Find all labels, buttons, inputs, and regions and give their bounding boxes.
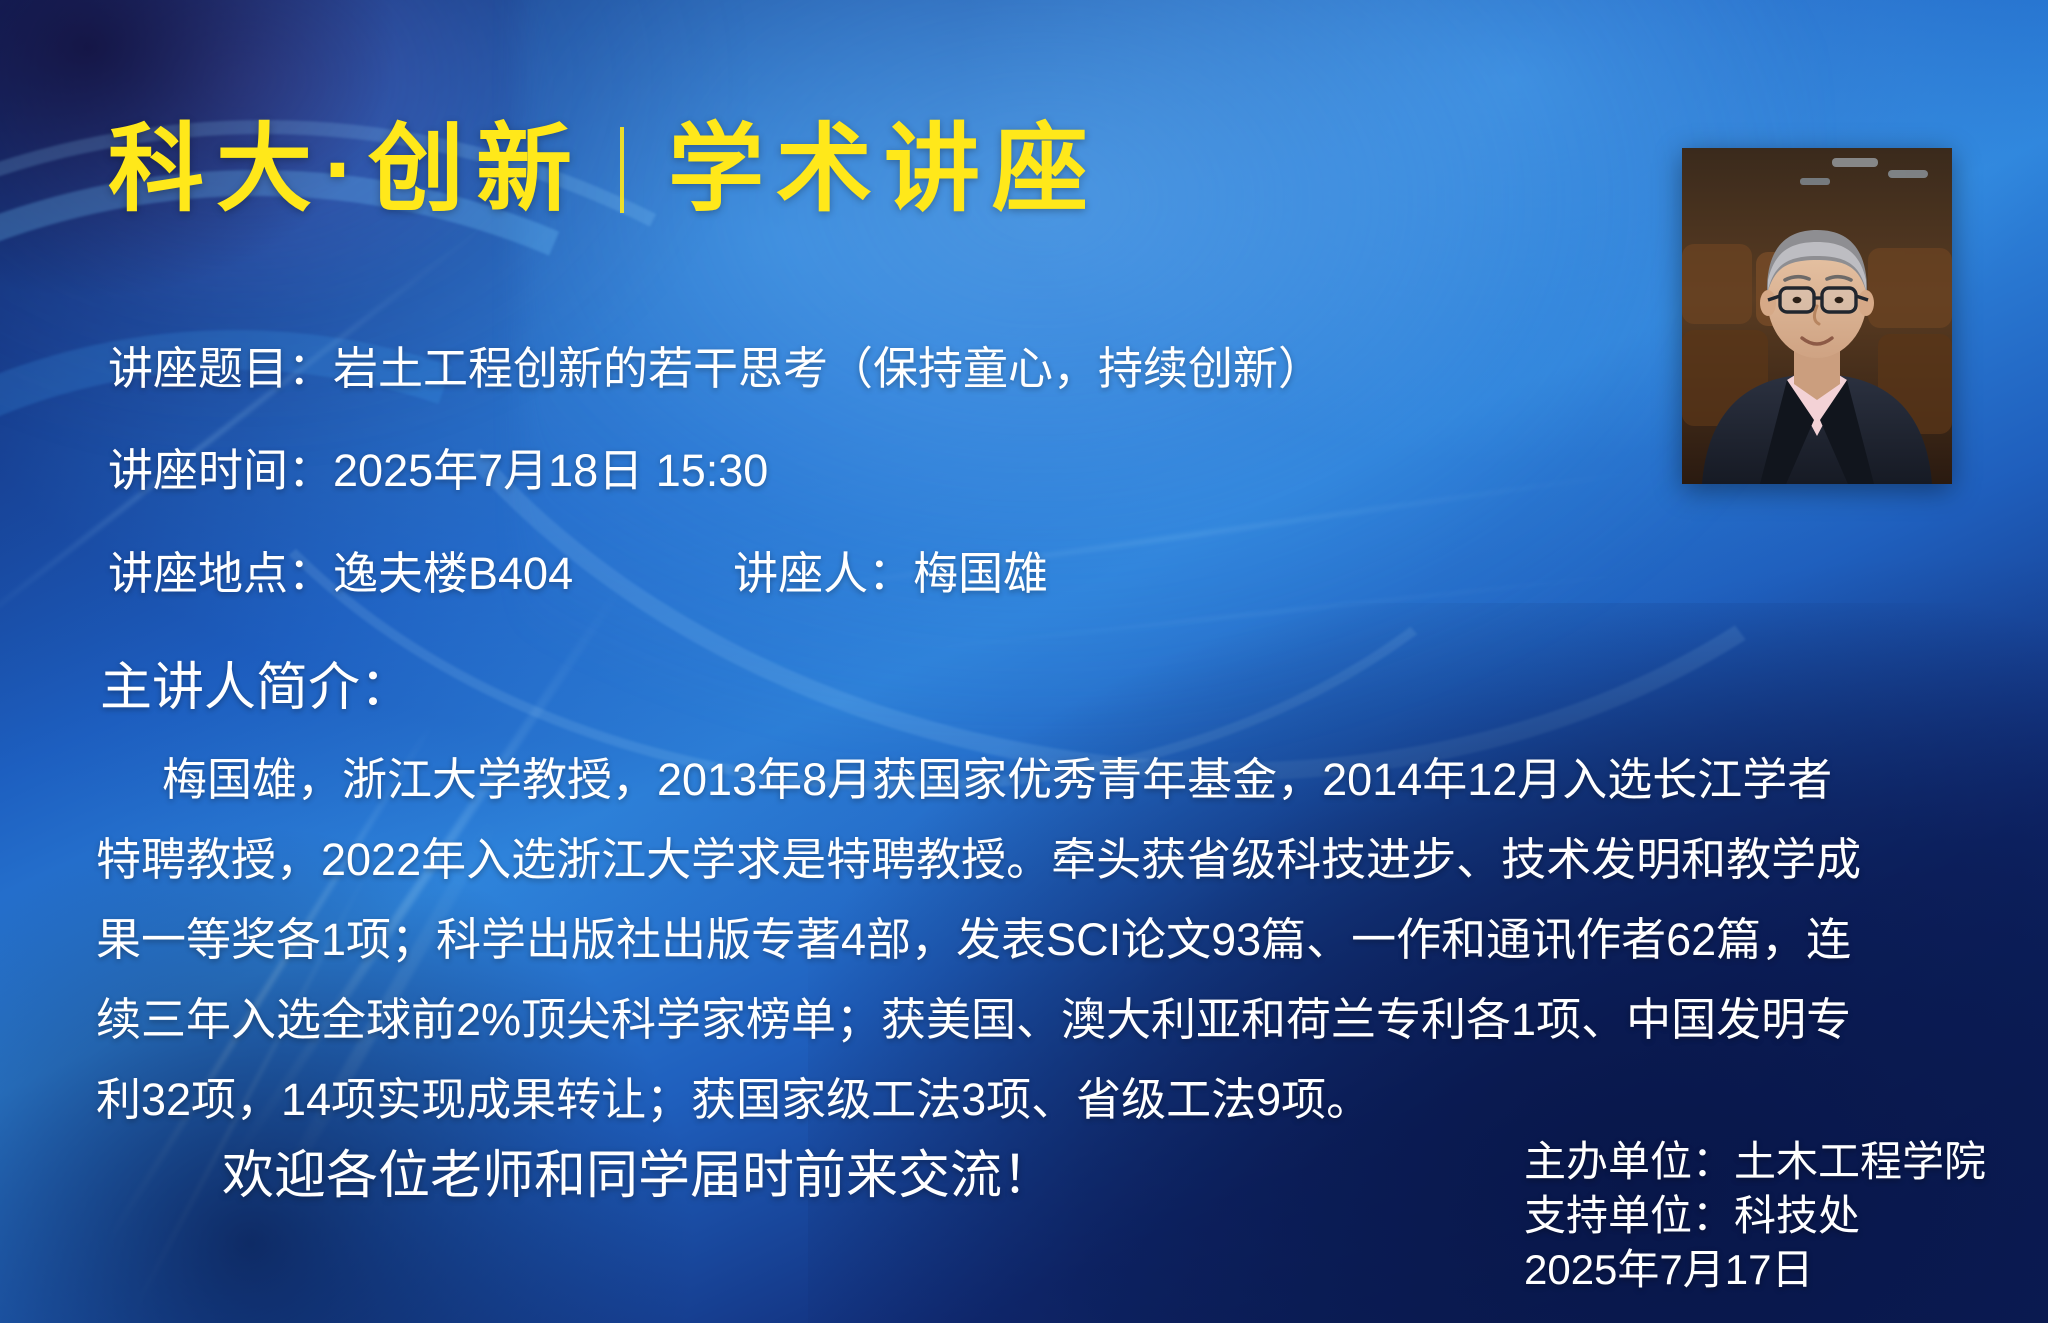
bio-line: 特聘教授，2022年入选浙江大学求是特聘教授。牵头获省级科技进步、技术发明和教学…	[96, 820, 1976, 900]
lecture-time-value: 2025年7月18日 15:30	[333, 445, 768, 496]
title-main-text: 科大·创新	[108, 122, 584, 218]
lecture-place-value: 逸夫楼B404	[333, 548, 573, 599]
welcome-message: 欢迎各位老师和同学届时前来交流！	[222, 1148, 1054, 1205]
lecture-speaker-label: 讲座人：	[733, 548, 913, 599]
lecture-time-label: 讲座时间：	[108, 445, 333, 496]
bio-heading: 主讲人简介：	[100, 660, 412, 717]
speaker-portrait	[1682, 148, 1952, 484]
bio-line: 果一等奖各1项；科学出版社出版专著4部，发表SCI论文93篇、一作和通讯作者62…	[96, 900, 1976, 980]
footer-support: 支持单位：科技处	[1524, 1189, 1986, 1243]
lecture-info: 讲座题目：岩土工程创新的若干思考（保持童心，持续创新） 讲座时间：2025年7月…	[108, 344, 1323, 599]
lecture-time-line: 讲座时间：2025年7月18日 15:30	[108, 446, 1323, 496]
lecture-topic-label: 讲座题目：	[108, 343, 333, 394]
footer-date: 2025年7月17日	[1524, 1243, 1986, 1297]
lecture-place-speaker-line: 讲座地点：逸夫楼B404讲座人：梅国雄	[108, 549, 1323, 599]
bio-body: 梅国雄，浙江大学教授，2013年8月获国家优秀青年基金，2014年12月入选长江…	[96, 740, 1976, 1140]
lecture-topic-line: 讲座题目：岩土工程创新的若干思考（保持童心，持续创新）	[108, 344, 1323, 394]
bio-line: 续三年入选全球前2%顶尖科学家榜单；获美国、澳大利亚和荷兰专利各1项、中国发明专	[96, 980, 1976, 1060]
title-divider	[620, 127, 624, 213]
lecture-speaker-value: 梅国雄	[913, 548, 1048, 599]
footer-block: 主办单位：土木工程学院 支持单位：科技处 2025年7月17日	[1524, 1135, 1986, 1297]
lecture-topic-value: 岩土工程创新的若干思考（保持童心，持续创新）	[333, 343, 1323, 394]
lecture-poster: 科大·创新 学术讲座	[0, 0, 2048, 1323]
poster-title: 科大·创新 学术讲座	[108, 122, 1100, 218]
bio-line: 梅国雄，浙江大学教授，2013年8月获国家优秀青年基金，2014年12月入选长江…	[96, 740, 1976, 820]
title-sub-text: 学术讲座	[668, 122, 1100, 218]
bio-line: 利32项，14项实现成果转让；获国家级工法3项、省级工法9项。	[96, 1060, 1976, 1140]
lecture-place-label: 讲座地点：	[108, 548, 333, 599]
portrait-illustration	[1682, 148, 1952, 484]
footer-organizer: 主办单位：土木工程学院	[1524, 1135, 1986, 1189]
